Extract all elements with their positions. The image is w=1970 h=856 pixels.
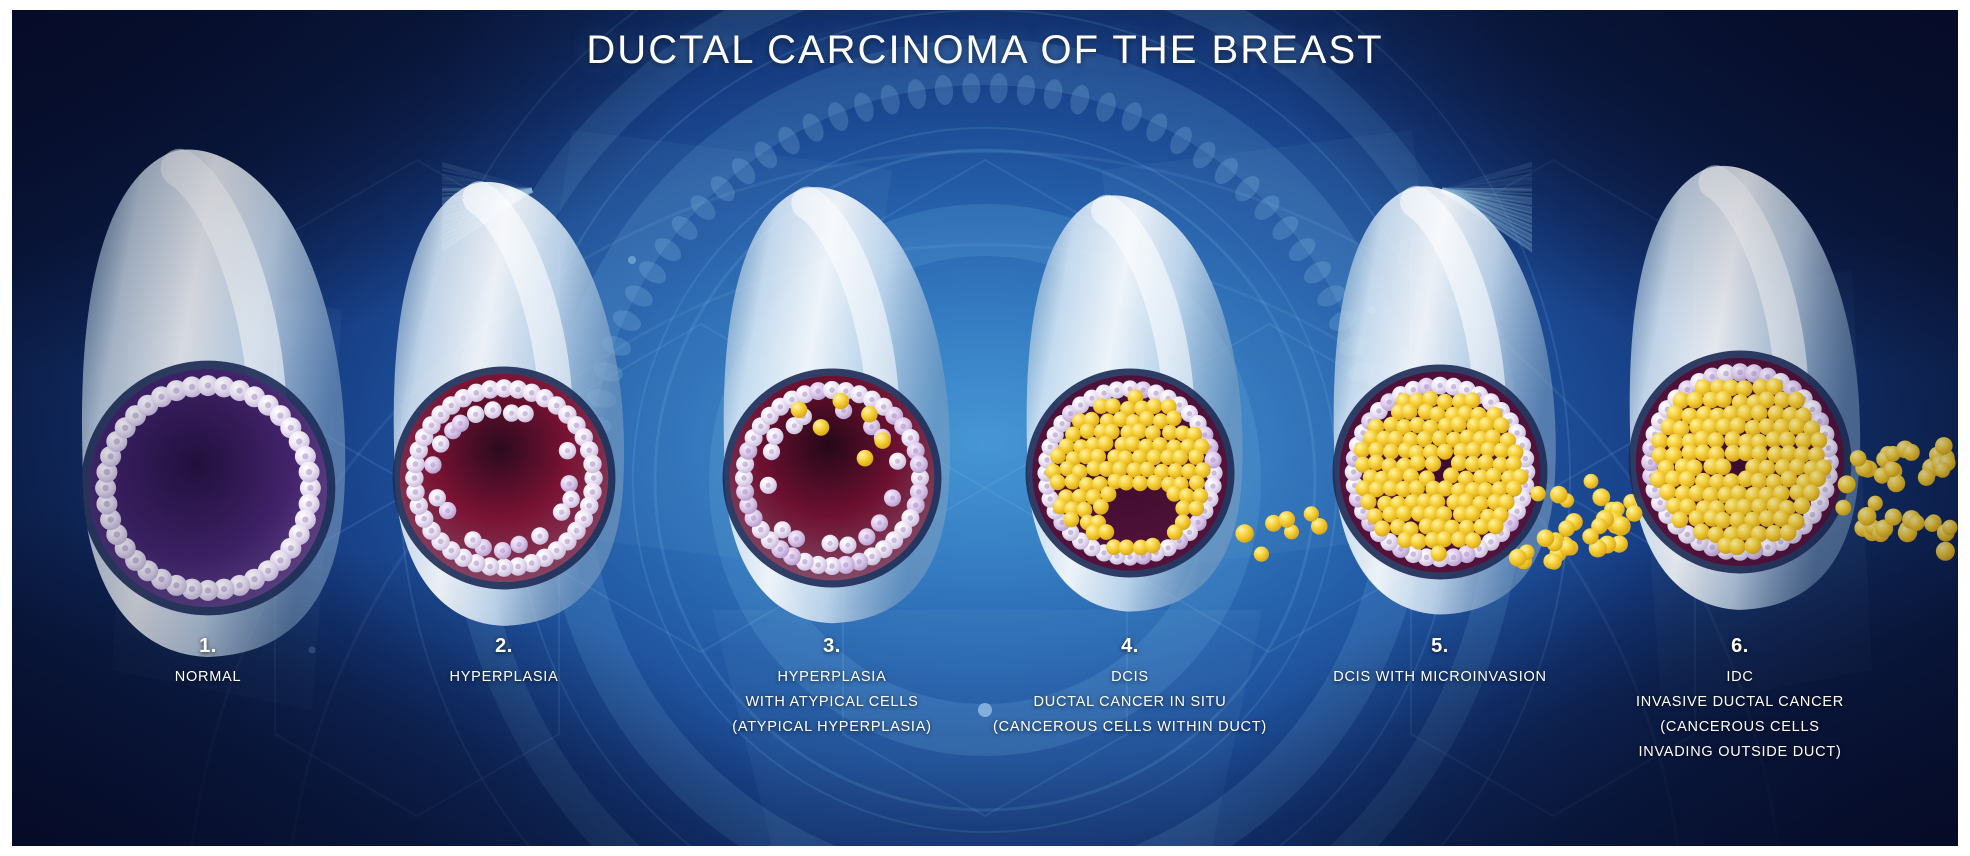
illustration-canvas: DUCTAL CARCINOMA OF THE BREAST 1.NORMAL2… bbox=[0, 0, 1970, 856]
page-title: DUCTAL CARCINOMA OF THE BREAST bbox=[12, 28, 1958, 73]
outer-vignette bbox=[12, 10, 1958, 846]
diagram-frame: DUCTAL CARCINOMA OF THE BREAST 1.NORMAL2… bbox=[12, 10, 1958, 846]
